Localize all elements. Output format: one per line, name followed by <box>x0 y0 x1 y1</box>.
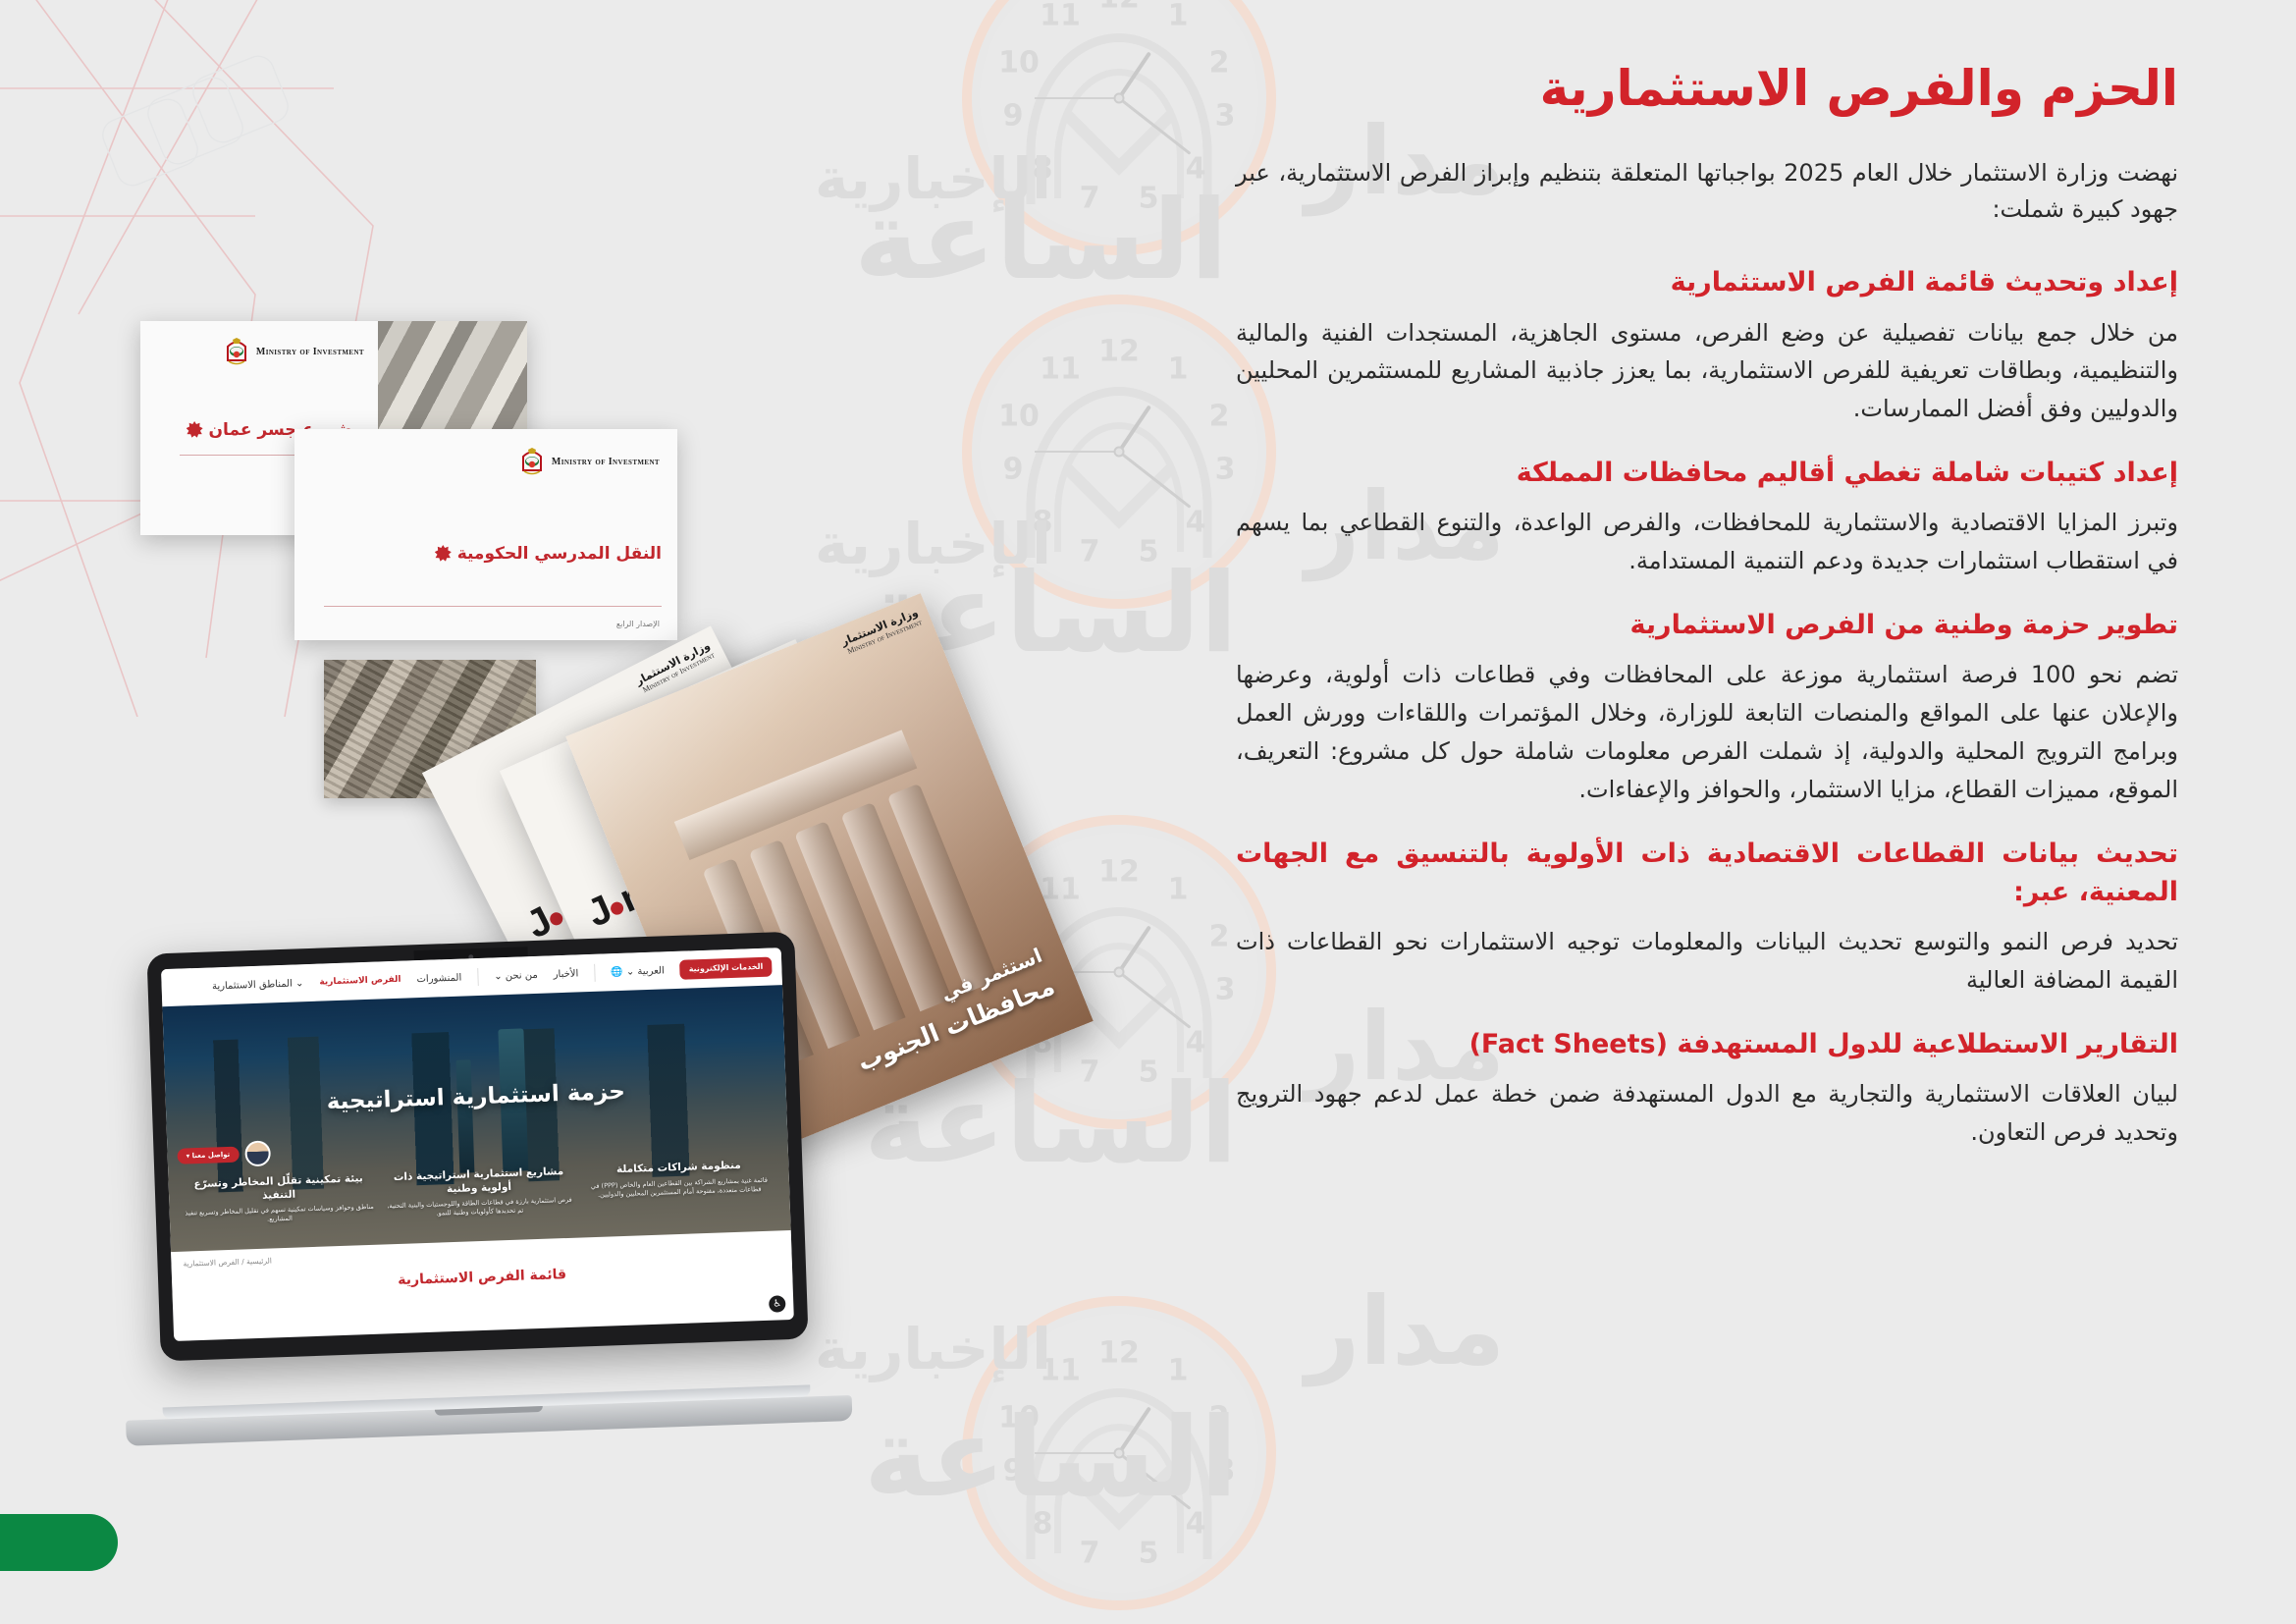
jordan-emblem-icon <box>519 447 545 476</box>
slide-two-title: النقل المدرسي الحكومية <box>416 543 662 566</box>
section-body: تضم نحو 100 فرصة استثمارية موزعة على الم… <box>1236 656 2178 809</box>
slide-divider <box>324 606 662 607</box>
contact-button[interactable]: تواصل معنا ▾ <box>177 1147 239 1164</box>
contact-widget[interactable]: تواصل معنا ▾ <box>177 1140 270 1168</box>
page-title: الحزم والفرص الاستثمارية <box>1236 59 2178 118</box>
ministry-logo-text: Ministry of Investment <box>552 457 660 467</box>
nav-item-about[interactable]: من نحن ⌄ <box>494 969 538 982</box>
section-body: لبيان العلاقات الاستثمارية والتجارية مع … <box>1236 1075 2178 1152</box>
nav-item-investment-opportunities[interactable]: الفرص الاستثمارية <box>319 975 401 988</box>
section-fact-sheets: التقارير الاستطلاعية للدول المستهدفة (Fa… <box>1236 1025 2178 1152</box>
nav-divider <box>477 968 479 986</box>
site-hero: حزمة استثمارية استراتيجية منظومة شراكات … <box>162 985 790 1252</box>
section-heading: تحديث بيانات القطاعات الاقتصادية ذات الأ… <box>1236 835 2178 911</box>
dot-icon <box>609 899 625 916</box>
page-number-badge: 7 <box>0 1514 118 1571</box>
section-body: تحديد فرص النمو والتوسع تحديث البيانات و… <box>1236 923 2178 1000</box>
slide-edition-label: الإصدار الرابع <box>616 620 660 628</box>
section-heading: التقارير الاستطلاعية للدول المستهدفة (Fa… <box>1236 1025 2178 1063</box>
section-heading: تطوير حزمة وطنية من الفرص الاستثمارية <box>1236 606 2178 644</box>
ministry-crest-logo: Ministry of Investment <box>224 337 364 366</box>
slide-card-school-transport: Ministry of Investment النقل المدرسي الح… <box>294 429 677 640</box>
e-services-button[interactable]: الخدمات الإلكترونية <box>679 957 772 979</box>
avatar <box>244 1140 271 1166</box>
ministry-logo-text: Ministry of Investment <box>256 347 364 357</box>
section-priority-sectors: تحديث بيانات القطاعات الاقتصادية ذات الأ… <box>1236 835 2178 1000</box>
language-switcher[interactable]: العربية ⌄ 🌐 <box>611 965 665 978</box>
image-collage: Ministry of Investment مشروع جسر عمان Mi… <box>0 0 1060 1624</box>
nav-item-news[interactable]: الأخبار <box>554 968 579 980</box>
section-opportunities-list: إعداد وتحديث قائمة الفرص الاستثمارية من … <box>1236 263 2178 428</box>
section-national-package: تطوير حزمة وطنية من الفرص الاستثمارية تض… <box>1236 606 2178 809</box>
laptop-screen: الخدمات الإلكترونية العربية ⌄ 🌐 الأخبار … <box>161 947 794 1341</box>
section-body: من خلال جمع بيانات تفصيلية عن وضع الفرص،… <box>1236 314 2178 429</box>
ministry-crest-logo: Ministry of Investment <box>519 447 660 476</box>
hero-card[interactable]: منظومة شراكات متكاملة قائمة غنية بمشاريع… <box>582 1159 776 1214</box>
nav-item-publications[interactable]: المنشورات <box>416 972 461 985</box>
section-heading: إعداد كتيبات شاملة تغطي أقاليم محافظات ا… <box>1236 454 2178 492</box>
nav-divider <box>594 964 596 982</box>
section-body: وتبرز المزايا الاقتصادية والاستثمارية لل… <box>1236 504 2178 580</box>
star-bullet-icon <box>435 545 452 562</box>
hero-card[interactable]: مشاريع استثمارية استراتيجية ذات أولوية و… <box>382 1165 576 1220</box>
section-heading: إعداد وتحديث قائمة الفرص الاستثمارية <box>1236 263 2178 301</box>
hero-card[interactable]: بيئة تمكينية تقلّل المخاطر وتسرّع التنفي… <box>182 1172 376 1227</box>
star-bullet-icon <box>187 421 203 438</box>
nav-item-investment-zones[interactable]: ⌄ المناطق الاستثمارية <box>212 978 304 992</box>
accessibility-icon[interactable]: ♿ <box>769 1295 786 1313</box>
main-content: الحزم والفرص الاستثمارية نهضت وزارة الاس… <box>1236 59 2178 1177</box>
laptop-mockup: الخدمات الإلكترونية العربية ⌄ 🌐 الأخبار … <box>110 930 853 1446</box>
laptop-lid: الخدمات الإلكترونية العربية ⌄ 🌐 الأخبار … <box>146 932 808 1362</box>
jordan-emblem-icon <box>224 337 249 366</box>
intro-paragraph: نهضت وزارة الاستثمار خلال العام 2025 بوا… <box>1236 155 2178 228</box>
section-governorate-booklets: إعداد كتيبات شاملة تغطي أقاليم محافظات ا… <box>1236 454 2178 580</box>
